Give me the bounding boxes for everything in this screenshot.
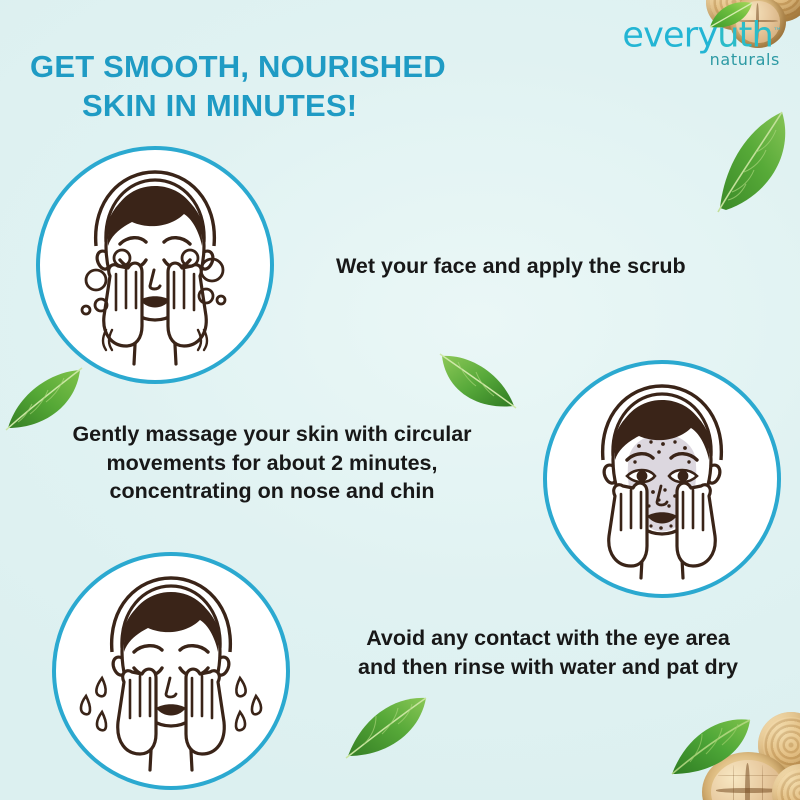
page-title-line-2: SKIN IN MINUTES! [30, 86, 570, 125]
step-1-caption-line-1: Wet your face and apply the scrub [336, 252, 686, 281]
leaf-icon-bottom-center [344, 694, 430, 762]
step-3-caption: Avoid any contact with the eye area and … [318, 624, 778, 681]
step-1-caption: Wet your face and apply the scrub [336, 252, 686, 281]
trademark-symbol: ™ [773, 27, 782, 37]
woman-rinsing-face-with-water-illustration [56, 556, 286, 786]
logo-wordmark: everyuth™ [614, 14, 782, 54]
step-2-caption-line-2: movements for about 2 minutes, [36, 449, 508, 478]
leaf-icon-top-right [710, 108, 794, 214]
step-3-illustration [52, 552, 290, 790]
leaf-icon-bottom-right [668, 714, 754, 778]
logo-name-tail: uth [717, 16, 773, 56]
brand-logo: everyuth™ naturals [614, 14, 782, 76]
step-3-caption-line-2: and then rinse with water and pat dry [318, 653, 778, 682]
logo-name-main: every [622, 16, 717, 56]
step-2-illustration [543, 360, 781, 598]
infographic-poster: everyuth™ naturals GET SMOOTH, NOURISHED… [0, 0, 800, 800]
step-2-caption-line-3: concentrating on nose and chin [36, 477, 508, 506]
step-2-caption-line-1: Gently massage your skin with circular [36, 420, 508, 449]
step-3-caption-line-1: Avoid any contact with the eye area [318, 624, 778, 653]
step-2-caption: Gently massage your skin with circular m… [36, 420, 508, 506]
page-title: GET SMOOTH, NOURISHED SKIN IN MINUTES! [30, 47, 570, 126]
step-1-illustration [36, 146, 274, 384]
leaf-icon-mid-center [436, 348, 518, 418]
page-title-line-1: GET SMOOTH, NOURISHED [30, 47, 570, 86]
woman-washing-face-with-bubbles-illustration [40, 150, 270, 380]
woman-massaging-scrub-on-face-illustration [547, 364, 777, 594]
